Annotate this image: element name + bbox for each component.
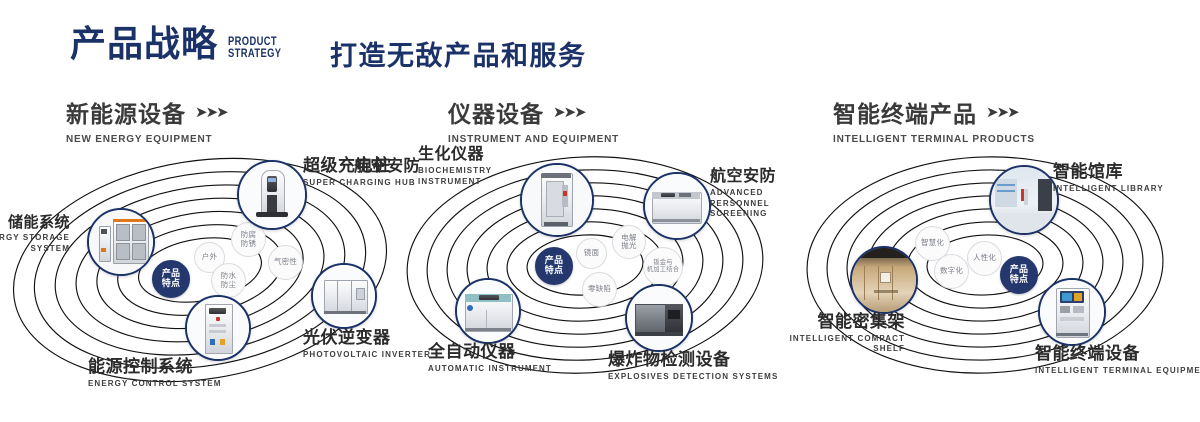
node-label-explosives-detection-systems: 爆炸物检测设备 EXPLOSIVES DETECTION SYSTEMS [608,350,778,382]
chevrons-right-icon: ➤➤➤ [195,103,227,121]
section-title-instruments: 仪器设备 ➤➤➤ INSTRUMENT AND EQUIPMENT [448,95,619,145]
node-automatic-instrument[interactable] [455,278,521,344]
feature-bubble: 钣金与机加工结合 [643,247,683,287]
node-intelligent-compact-shelf[interactable] [850,246,918,314]
node-energy-control-system[interactable] [185,295,251,361]
feature-core-bubble: 产品特点 [1000,256,1038,294]
node-intelligent-terminal-equipment[interactable] [1038,278,1106,346]
feature-core-bubble: 产品特点 [535,247,573,285]
feature-bubble: 零缺陷 [582,272,617,307]
node-intelligent-library[interactable] [989,165,1059,235]
cluster-new-energy: 产品特点 户外 防腐防锈 防水防尘 气密性 储能系统 ENERGY STORAG… [0,150,400,415]
node-label-biochemistry-instrument: 生化仪器 BIOCHEMISTRY INSTRUMENT [418,146,492,187]
node-label-intelligent-terminal-equipment: 智能终端设备 INTELLIGENT TERMINAL EQUIPMENT [1035,344,1200,376]
feature-core-bubble: 产品特点 [152,260,190,298]
section-title-intelligent-terminal: 智能终端产品 ➤➤➤ INTELLIGENT TERMINAL PRODUCTS [833,95,1035,145]
core-line2: 特点 [545,265,564,275]
node-biochemistry-instrument[interactable] [520,163,594,237]
node-energy-storage-system[interactable] [87,208,155,276]
feature-bubble: 电解抛光 [612,225,646,259]
page-title-cn: 产品战略 [70,26,218,62]
page-title-en: PRODUCT STRATEGY [228,35,281,60]
section-title-cn: 仪器设备 [448,95,544,129]
node-label-intelligent-library: 智能馆库 INTELLIGENT LIBRARY [1053,162,1164,194]
chevrons-right-icon: ➤➤➤ [986,103,1018,121]
node-label-intelligent-compact-shelf: 智能密集架 INTELLIGENT COMPACT SHELF [735,312,905,354]
page-subtitle: 打造无敌产品和服务 [330,34,587,73]
node-label-energy-storage-system: 储能系统 ENERGY STORAGE SYSTEM [0,214,70,254]
section-title-en: INSTRUMENT AND EQUIPMENT [448,134,619,145]
node-super-charging-hub[interactable] [237,160,307,230]
core-line1: 产品 [545,255,564,265]
cluster-instruments: 产品特点 镜面 电解抛光 钣金与机加工结合 零缺陷 航空安防 生化仪器 BIOC… [390,150,790,415]
node-photovoltaic-inverter[interactable] [311,263,377,329]
cluster-intelligent-terminal: 智慧化 人性化 数字化 产品特点 智能馆库 INTELLIGENT LIBRAR… [795,150,1195,415]
section-title-en: NEW ENERGY EQUIPMENT [66,134,227,145]
page-header: 产品战略 PRODUCT STRATEGY [70,26,296,62]
section-title-cn: 新能源设备 [66,95,186,129]
feature-bubble: 防水防尘 [211,263,246,298]
feature-bubble: 数字化 [934,254,969,289]
core-line1: 产品 [1010,264,1029,274]
feature-bubble: 镜面 [576,238,607,269]
node-advanced-personnel-screening[interactable] [643,172,711,240]
core-line2: 特点 [1010,274,1029,284]
node-label-advanced-personnel-screening: 航空安防 ADVANCED PERSONNEL SCREENING [710,168,790,220]
core-line1: 产品 [162,268,181,278]
product-strategy-infographic: 产品战略 PRODUCT STRATEGY 打造无敌产品和服务 新能源设备 ➤➤… [0,0,1200,422]
chevrons-right-icon: ➤➤➤ [553,103,585,121]
section-title-new-energy: 新能源设备 ➤➤➤ NEW ENERGY EQUIPMENT [66,95,227,145]
feature-bubble: 人性化 [967,241,1002,276]
section-title-en: INTELLIGENT TERMINAL PRODUCTS [833,134,1035,145]
core-line2: 特点 [162,278,181,288]
section-title-cn: 智能终端产品 [833,95,977,129]
node-label-aviation-security-left: 航空安防 [320,158,420,176]
node-label-energy-control-system: 能源控制系统 ENERGY CONTROL SYSTEM [88,357,222,389]
feature-bubble: 气密性 [268,245,303,280]
node-explosives-detection-systems[interactable] [625,284,693,352]
node-label-automatic-instrument: 全自动仪器 AUTOMATIC INSTRUMENT [428,342,552,374]
